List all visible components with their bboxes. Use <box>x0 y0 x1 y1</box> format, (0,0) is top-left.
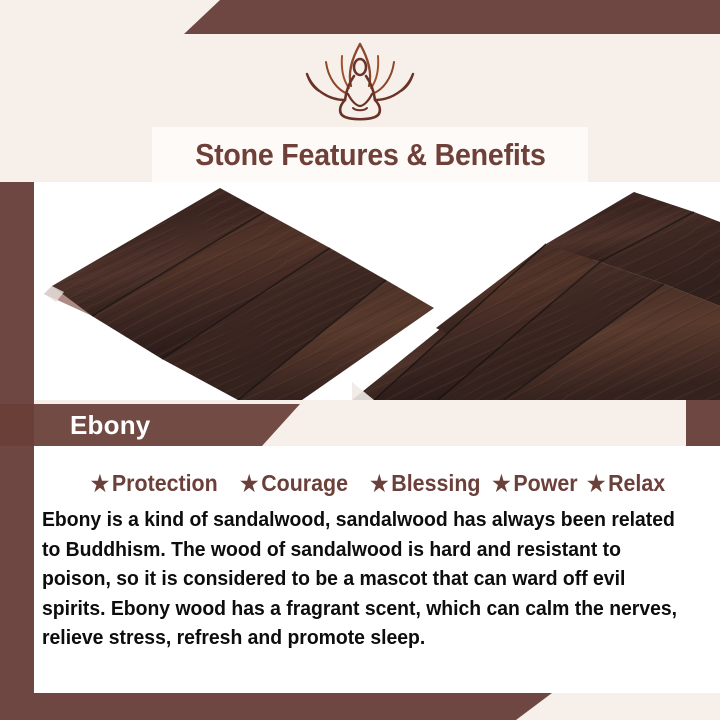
lotus-meditation-icon <box>285 38 435 129</box>
star-icon: ★ <box>240 473 258 495</box>
star-icon: ★ <box>90 473 108 495</box>
title-plate: Stone Features & Benefits <box>152 127 588 182</box>
star-icon: ★ <box>370 473 388 495</box>
star-icon: ★ <box>587 473 605 495</box>
frame-band-bottom <box>0 693 552 720</box>
benefit-item: ★ Blessing <box>370 470 480 497</box>
benefit-item: ★ Protection <box>90 470 217 497</box>
benefit-item: ★ Courage <box>240 470 348 497</box>
benefit-label: Power <box>513 470 577 497</box>
content-card: ★ Protection ★ Courage ★ Blessing ★ Powe… <box>34 446 720 693</box>
benefit-label: Courage <box>261 470 348 497</box>
benefit-label: Blessing <box>391 470 480 497</box>
frame-band-top <box>184 0 720 34</box>
star-icon: ★ <box>492 473 510 495</box>
poster-root: BUDDHA STONES Stone Features & Benefits <box>0 0 720 720</box>
benefit-item: ★ Power <box>492 470 577 497</box>
benefit-item: ★ Relax <box>587 470 665 497</box>
benefits-list: ★ Protection ★ Courage ★ Blessing ★ Powe… <box>34 470 720 497</box>
frame-band-left <box>0 182 34 720</box>
product-label: Ebony <box>70 404 150 446</box>
benefit-label: Protection <box>111 470 217 497</box>
ebony-wood-planks-photo <box>34 182 720 400</box>
page-title: Stone Features & Benefits <box>195 137 545 173</box>
benefit-label: Relax <box>608 470 665 497</box>
description-text: Ebony is a kind of sandalwood, sandalwoo… <box>42 506 680 654</box>
